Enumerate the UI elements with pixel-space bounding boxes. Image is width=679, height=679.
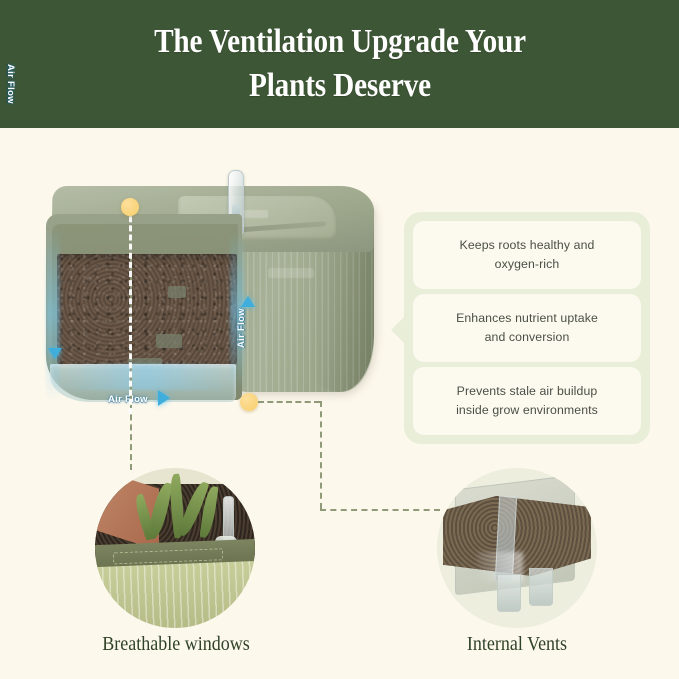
feature-card-1: Keeps roots healthy and oxygen-rich	[413, 221, 641, 289]
feature-panel: Keeps roots healthy and oxygen-rich Enha…	[404, 212, 650, 444]
detail-right-vent-leg-2	[529, 568, 553, 606]
detail-left-base-ribbing	[95, 561, 255, 628]
header-banner: The Ventilation Upgrade Your Plants Dese…	[0, 0, 679, 128]
feature-card-2-line-2: and conversion	[485, 330, 570, 344]
detail-left-planter-base	[95, 561, 255, 628]
soil-texture	[57, 254, 237, 366]
product-cutaway-illustration	[30, 168, 380, 436]
feature-card-1-line-1: Keeps roots healthy and	[460, 238, 595, 252]
feature-card-1-line-2: oxygen-rich	[495, 257, 560, 271]
callout-marker-top[interactable]	[121, 198, 139, 216]
planter-brand-emboss	[268, 268, 314, 278]
airflow-arrow-up-icon	[241, 296, 255, 307]
caption-internal-vents: Internal Vents	[445, 633, 589, 656]
airflow-label-left: Air Flow	[5, 64, 16, 104]
page-title: The Ventilation Upgrade Your Plants Dese…	[64, 20, 614, 107]
detail-right-vent-leg-1	[497, 574, 521, 612]
feature-card-3-line-1: Prevents stale air buildup	[457, 384, 598, 398]
root-anchor-2	[168, 286, 186, 298]
callout-marker-bottom[interactable]	[240, 393, 258, 411]
feature-card-2-text: Enhances nutrient uptake and conversion	[456, 309, 598, 347]
feature-card-2-line-1: Enhances nutrient uptake	[456, 311, 598, 325]
feature-card-3: Prevents stale air buildup inside grow e…	[413, 367, 641, 435]
soil-fill	[57, 254, 237, 366]
root-anchor-1	[156, 334, 182, 348]
connector-line-bottom-horizontal	[258, 401, 320, 403]
connector-line-overlay-on-product	[129, 198, 132, 414]
detail-photo-internal-vents	[437, 468, 597, 628]
feature-panel-pointer-icon	[391, 316, 405, 344]
feature-card-2: Enhances nutrient uptake and conversion	[413, 294, 641, 362]
airflow-label-right: Air Flow	[236, 308, 247, 348]
page-title-line-2: Plants Deserve	[249, 67, 431, 104]
airflow-arrow-right-icon	[158, 390, 170, 406]
connector-line-bottom-vertical	[320, 401, 322, 509]
page-title-line-1: The Ventilation Upgrade Your	[154, 23, 526, 60]
connector-line-to-right-circle	[320, 509, 440, 511]
airflow-label-bottom: Air Flow	[108, 394, 148, 405]
caption-breathable-windows: Breathable windows	[95, 633, 257, 656]
airflow-arrow-down-icon	[48, 348, 62, 359]
feature-card-3-line-2: inside grow environments	[456, 403, 598, 417]
feature-card-1-text: Keeps roots healthy and oxygen-rich	[460, 236, 595, 274]
feature-card-3-text: Prevents stale air buildup inside grow e…	[456, 382, 598, 420]
vent-channel-bottom	[58, 364, 234, 390]
detail-photo-breathable-windows	[95, 468, 255, 628]
infographic-root: The Ventilation Upgrade Your Plants Dese…	[0, 0, 679, 679]
